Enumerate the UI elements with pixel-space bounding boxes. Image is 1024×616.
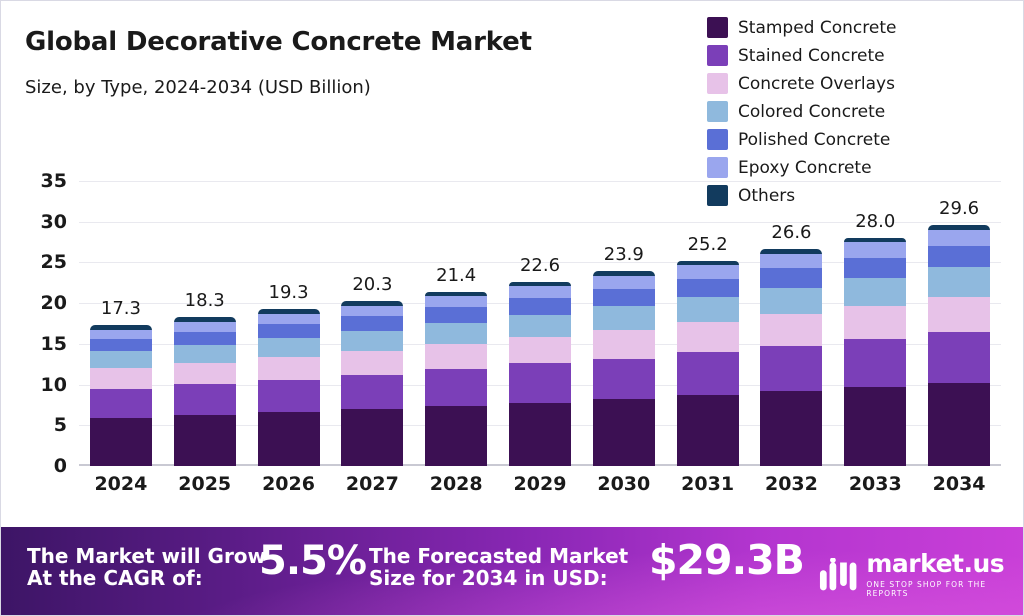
- bar-segment[interactable]: [844, 339, 906, 387]
- bar-segment[interactable]: [928, 246, 990, 267]
- gridline: [79, 181, 1001, 182]
- bar-segment[interactable]: [258, 324, 320, 338]
- forecast-size-label-line1: The Forecasted Market: [369, 545, 628, 567]
- x-axis-tick-label: 2033: [833, 473, 917, 495]
- bar-segment[interactable]: [593, 276, 655, 289]
- bar-segment[interactable]: [593, 306, 655, 330]
- page-subtitle: Size, by Type, 2024-2034 (USD Billion): [25, 77, 371, 98]
- legend-label: Colored Concrete: [738, 102, 885, 122]
- bar-segment[interactable]: [760, 391, 822, 466]
- bar-segment[interactable]: [928, 267, 990, 296]
- infographic-canvas: Global Decorative Concrete Market Size, …: [0, 0, 1024, 616]
- logo-wordmark: market.us: [866, 551, 1024, 576]
- bar-segment[interactable]: [760, 254, 822, 269]
- x-axis-tick-label: 2025: [163, 473, 247, 495]
- bar-segment[interactable]: [174, 322, 236, 332]
- x-axis-tick-label: 2031: [666, 473, 750, 495]
- y-axis-tick-label: 0: [27, 455, 67, 477]
- bar-segment[interactable]: [509, 315, 571, 337]
- bar-segment[interactable]: [258, 314, 320, 325]
- bar-total-label: 23.9: [604, 244, 644, 265]
- legend-label: Stamped Concrete: [738, 18, 896, 38]
- bar-segment[interactable]: [90, 368, 152, 388]
- bar-segment[interactable]: [509, 403, 571, 467]
- legend-item[interactable]: Stained Concrete: [707, 43, 896, 68]
- bar-segment[interactable]: [677, 297, 739, 322]
- y-axis-tick-label: 20: [27, 292, 67, 314]
- bar-segment[interactable]: [593, 359, 655, 400]
- bar-segment[interactable]: [677, 322, 739, 352]
- bar-segment[interactable]: [258, 380, 320, 413]
- bar-segment[interactable]: [174, 415, 236, 466]
- legend-swatch-icon: [707, 17, 728, 38]
- bar-segment[interactable]: [341, 375, 403, 409]
- bar-segment[interactable]: [509, 337, 571, 364]
- bar-stack[interactable]: [174, 317, 236, 466]
- forecast-size-label: The Forecasted Market Size for 2034 in U…: [369, 545, 628, 590]
- bar-segment[interactable]: [425, 406, 487, 466]
- bar-segment[interactable]: [844, 387, 906, 466]
- forecast-size-label-line2: Size for 2034 in USD:: [369, 567, 628, 589]
- bar-segment[interactable]: [509, 286, 571, 298]
- y-axis-tick-label: 35: [27, 170, 67, 192]
- forecast-size-value: $29.3B: [649, 538, 804, 584]
- bar-segment[interactable]: [341, 331, 403, 351]
- bar-total-label: 28.0: [855, 211, 895, 232]
- legend-swatch-icon: [707, 157, 728, 178]
- legend-label: Stained Concrete: [738, 46, 885, 66]
- y-axis-tick-label: 10: [27, 374, 67, 396]
- bar-segment[interactable]: [928, 297, 990, 332]
- bar-segment[interactable]: [509, 298, 571, 314]
- y-axis-tick-label: 5: [27, 414, 67, 436]
- bar-segment[interactable]: [677, 395, 739, 466]
- cagr-label-line2: At the CAGR of:: [27, 567, 266, 589]
- bar-segment[interactable]: [425, 323, 487, 344]
- bar-segment[interactable]: [174, 345, 236, 363]
- bar-segment[interactable]: [425, 369, 487, 406]
- cagr-value: 5.5%: [259, 539, 366, 584]
- bar-total-label: 17.3: [101, 298, 141, 319]
- bar-segment[interactable]: [90, 418, 152, 466]
- bar-segment[interactable]: [760, 346, 822, 392]
- bar-total-label: 26.6: [771, 222, 811, 243]
- y-axis-tick-label: 30: [27, 211, 67, 233]
- legend-swatch-icon: [707, 45, 728, 66]
- bar-segment[interactable]: [341, 351, 403, 375]
- y-axis-tick-label: 25: [27, 251, 67, 273]
- bar-total-label: 22.6: [520, 255, 560, 276]
- bar-segment[interactable]: [844, 258, 906, 278]
- x-axis-tick-label: 2034: [917, 473, 1001, 495]
- bar-segment[interactable]: [174, 332, 236, 345]
- legend-item[interactable]: Concrete Overlays: [707, 71, 896, 96]
- market-us-logo[interactable]: market.us ONE STOP SHOP FOR THE REPORTS: [819, 551, 1024, 598]
- y-axis-tick-label: 15: [27, 333, 67, 355]
- bar-segment[interactable]: [341, 409, 403, 466]
- legend-item[interactable]: Colored Concrete: [707, 99, 896, 124]
- bar-stack[interactable]: [677, 261, 739, 466]
- bar-segment[interactable]: [90, 351, 152, 368]
- legend-item[interactable]: Stamped Concrete: [707, 15, 896, 40]
- chart-plot-area: 0510152025303517.3202418.3202519.3202620…: [79, 181, 1001, 466]
- bar-segment[interactable]: [677, 265, 739, 279]
- legend-label: Polished Concrete: [738, 130, 890, 150]
- cagr-label: The Market will Grow At the CAGR of:: [27, 545, 266, 590]
- legend-label: Concrete Overlays: [738, 74, 895, 94]
- chart-legend: Stamped ConcreteStained ConcreteConcrete…: [707, 15, 896, 208]
- legend-label: Epoxy Concrete: [738, 158, 872, 178]
- bar-segment[interactable]: [174, 363, 236, 384]
- bar-segment[interactable]: [341, 316, 403, 331]
- bar-segment[interactable]: [341, 306, 403, 317]
- x-axis-tick-label: 2026: [247, 473, 331, 495]
- bar-segment[interactable]: [425, 307, 487, 322]
- bar-stack[interactable]: [90, 325, 152, 466]
- bar-segment[interactable]: [844, 306, 906, 339]
- bar-segment[interactable]: [593, 289, 655, 306]
- bar-segment[interactable]: [928, 230, 990, 246]
- x-axis-tick-label: 2028: [414, 473, 498, 495]
- bar-segment[interactable]: [677, 352, 739, 395]
- bar-segment[interactable]: [928, 332, 990, 383]
- bar-segment[interactable]: [760, 268, 822, 288]
- bar-segment[interactable]: [760, 288, 822, 314]
- bar-segment[interactable]: [425, 296, 487, 307]
- bar-total-label: 21.4: [436, 265, 476, 286]
- bar-stack[interactable]: [928, 225, 990, 466]
- bar-stack[interactable]: [593, 271, 655, 466]
- bar-total-label: 29.6: [939, 198, 979, 219]
- cagr-label-line1: The Market will Grow: [27, 545, 266, 567]
- bar-stack[interactable]: [258, 309, 320, 466]
- legend-item[interactable]: Polished Concrete: [707, 127, 896, 152]
- bar-total-label: 18.3: [185, 290, 225, 311]
- bar-segment[interactable]: [90, 330, 152, 339]
- bar-total-label: 20.3: [352, 274, 392, 295]
- legend-swatch-icon: [707, 73, 728, 94]
- bar-segment[interactable]: [90, 389, 152, 418]
- bar-segment[interactable]: [258, 338, 320, 357]
- bar-segment[interactable]: [677, 279, 739, 297]
- bar-segment[interactable]: [593, 399, 655, 466]
- bar-segment[interactable]: [844, 278, 906, 306]
- bar-segment[interactable]: [844, 242, 906, 257]
- x-axis-tick-label: 2032: [750, 473, 834, 495]
- x-axis-tick-label: 2029: [498, 473, 582, 495]
- bar-stack[interactable]: [760, 249, 822, 466]
- bar-segment[interactable]: [509, 363, 571, 402]
- bar-segment[interactable]: [258, 412, 320, 466]
- bar-total-label: 19.3: [268, 282, 308, 303]
- bar-segment[interactable]: [593, 330, 655, 359]
- bar-segment[interactable]: [760, 314, 822, 346]
- bar-segment[interactable]: [174, 384, 236, 415]
- x-axis-tick-label: 2030: [582, 473, 666, 495]
- bar-total-label: 25.2: [688, 234, 728, 255]
- page-title: Global Decorative Concrete Market: [25, 27, 532, 57]
- x-axis-tick-label: 2024: [79, 473, 163, 495]
- legend-swatch-icon: [707, 129, 728, 150]
- bar-chart-logo-icon: [819, 558, 857, 592]
- bar-stack[interactable]: [425, 292, 487, 466]
- footer-banner: The Market will Grow At the CAGR of: 5.5…: [1, 527, 1024, 615]
- x-axis-tick-label: 2027: [330, 473, 414, 495]
- bar-segment[interactable]: [90, 339, 152, 351]
- logo-tagline: ONE STOP SHOP FOR THE REPORTS: [866, 580, 1024, 598]
- bar-segment[interactable]: [425, 344, 487, 369]
- bar-segment[interactable]: [928, 383, 990, 466]
- bar-segment[interactable]: [258, 357, 320, 380]
- bar-stack[interactable]: [509, 282, 571, 466]
- legend-swatch-icon: [707, 101, 728, 122]
- bar-stack[interactable]: [844, 238, 906, 466]
- bar-stack[interactable]: [341, 301, 403, 466]
- legend-item[interactable]: Epoxy Concrete: [707, 155, 896, 180]
